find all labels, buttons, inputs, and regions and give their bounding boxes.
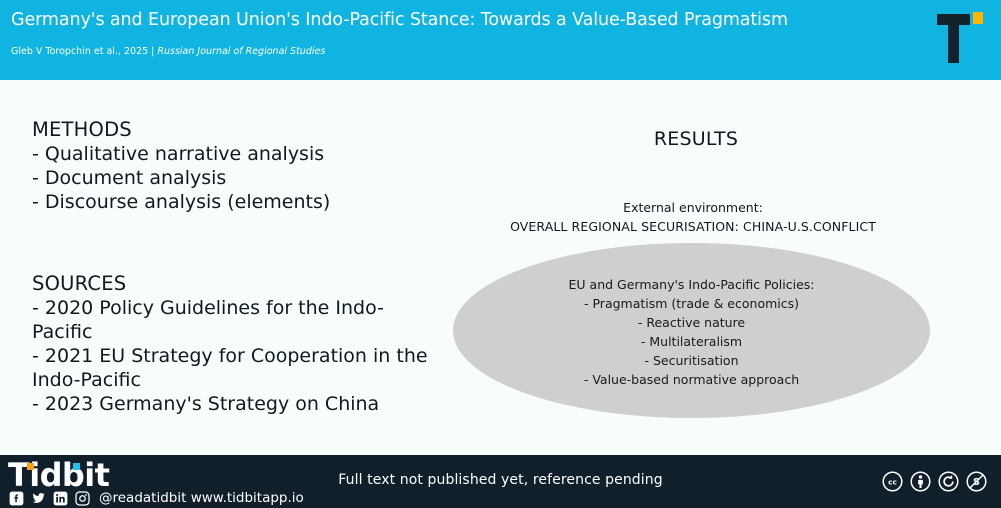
creative-commons-icon: cc <box>882 471 903 492</box>
twitter-icon[interactable] <box>31 491 46 506</box>
tidbit-t-logo <box>937 8 983 66</box>
reference-status-note: Full text not published yet, reference p… <box>0 472 1001 488</box>
journal-name: Russian Journal of Regional Studies <box>157 46 325 57</box>
list-item: - Multilateralism <box>453 332 930 351</box>
social-handle[interactable]: @readatidbit www.tidbitapp.io <box>99 491 304 506</box>
list-item: - 2023 Germany's Strategy on China <box>32 392 432 416</box>
sources-section: SOURCES - 2020 Policy Guidelines for the… <box>32 272 432 416</box>
methods-heading: METHODS <box>32 118 432 142</box>
page-title: Germany's and European Union's Indo-Paci… <box>11 9 891 31</box>
footer-bar: Tidbit @readatidbit www.tidbitapp.io Ful… <box>0 455 1001 508</box>
linkedin-icon[interactable] <box>53 491 68 506</box>
list-item: - 2021 EU Strategy for Cooperation in th… <box>32 344 432 392</box>
logo-t-stem <box>948 14 959 63</box>
header-bar: Germany's and European Union's Indo-Paci… <box>0 0 1001 80</box>
list-item: - Document analysis <box>32 166 432 190</box>
policies-text-block: EU and Germany's Indo-Pacific Policies: … <box>453 275 930 389</box>
list-item: - Qualitative narrative analysis <box>32 142 432 166</box>
wordmark-dot-orange <box>27 463 34 470</box>
list-item: - Securitisation <box>453 351 930 370</box>
list-item: - Value-based normative approach <box>453 370 930 389</box>
results-heading: RESULTS <box>453 128 939 150</box>
instagram-icon[interactable] <box>75 491 90 506</box>
social-links[interactable]: @readatidbit www.tidbitapp.io <box>9 491 304 506</box>
methods-section: METHODS - Qualitative narrative analysis… <box>32 118 432 214</box>
byline-separator: | <box>148 46 157 57</box>
logo-accent-square <box>973 12 983 24</box>
policies-title: EU and Germany's Indo-Pacific Policies: <box>453 275 930 294</box>
sources-heading: SOURCES <box>32 272 432 296</box>
content-area: METHODS - Qualitative narrative analysis… <box>0 80 1001 455</box>
sources-list: - 2020 Policy Guidelines for the Indo-Pa… <box>32 296 432 416</box>
list-item: - Reactive nature <box>453 313 930 332</box>
article-byline: Gleb V Toropchin et al., 2025|Russian Jo… <box>11 45 325 58</box>
methods-list: - Qualitative narrative analysis - Docum… <box>32 142 432 214</box>
wordmark-dot-cyan <box>73 463 80 470</box>
external-environment-label: External environment: <box>443 198 943 217</box>
summary-card: Germany's and European Union's Indo-Paci… <box>0 0 1001 508</box>
results-column: RESULTS External environment: OVERALL RE… <box>453 80 1001 455</box>
cc-sa-icon <box>938 471 959 492</box>
cc-by-icon <box>910 471 931 492</box>
list-item: - Discourse analysis (elements) <box>32 190 432 214</box>
list-item: - Pragmatism (trade & economics) <box>453 294 930 313</box>
external-environment-value: OVERALL REGIONAL SECURISATION: CHINA-U.S… <box>443 217 943 236</box>
facebook-icon[interactable] <box>9 491 24 506</box>
policies-ellipse: EU and Germany's Indo-Pacific Policies: … <box>453 243 930 418</box>
svg-text:cc: cc <box>888 477 897 486</box>
cc-nc-icon: S <box>966 471 987 492</box>
list-item: - 2020 Policy Guidelines for the Indo-Pa… <box>32 296 432 344</box>
license-badges: cc S <box>882 471 987 492</box>
authors-text: Gleb V Toropchin et al., 2025 <box>11 46 148 57</box>
external-environment-block: External environment: OVERALL REGIONAL S… <box>443 198 943 236</box>
